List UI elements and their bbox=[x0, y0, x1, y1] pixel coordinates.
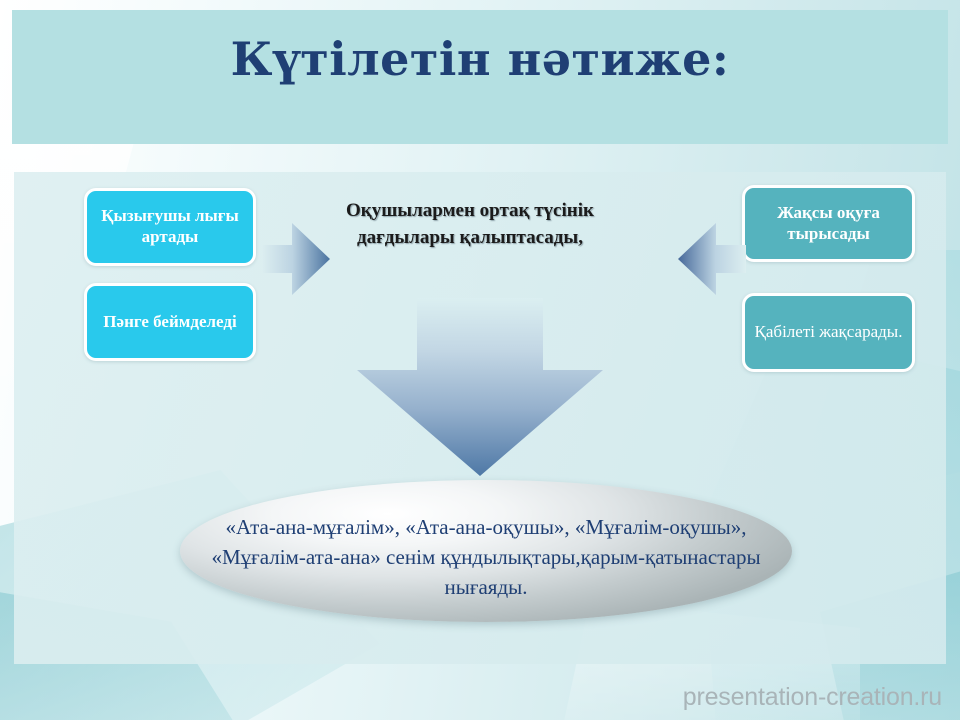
node-subject-adaptation-label: Пәнге беймделеді bbox=[87, 312, 253, 333]
arrow-right-icon bbox=[262, 219, 332, 299]
watermark: presentation-creation.ru bbox=[683, 683, 942, 712]
center-statement: Оқушылармен ортақ түсінік дағдылары қалы… bbox=[320, 198, 620, 252]
arrow-left-icon bbox=[676, 219, 746, 299]
title-band: Күтілетін нәтиже: bbox=[12, 10, 948, 144]
node-ability-improves[interactable]: Қабілеті жақсарады. bbox=[742, 293, 915, 372]
slide-canvas: Күтілетін нәтиже: Қызығушы лығы артады П… bbox=[0, 0, 960, 720]
conclusion-ellipse: «Ата-ана-мұғалім», «Ата-ана-оқушы», «Мұғ… bbox=[180, 480, 792, 622]
node-ability-improves-label: Қабілеті жақсарады. bbox=[745, 322, 912, 343]
page-title: Күтілетін нәтиже: bbox=[12, 32, 948, 86]
node-interest-increases-label: Қызығушы лығы артады bbox=[87, 206, 253, 247]
node-strives-to-study-well[interactable]: Жақсы оқуға тырысады bbox=[742, 185, 915, 262]
node-strives-to-study-well-label: Жақсы оқуға тырысады bbox=[745, 203, 912, 244]
node-subject-adaptation[interactable]: Пәнге беймделеді bbox=[84, 283, 256, 361]
arrow-down-icon bbox=[355, 298, 605, 480]
conclusion-text: «Ата-ана-мұғалім», «Ата-ана-оқушы», «Мұғ… bbox=[206, 499, 766, 602]
node-interest-increases[interactable]: Қызығушы лығы артады bbox=[84, 188, 256, 266]
